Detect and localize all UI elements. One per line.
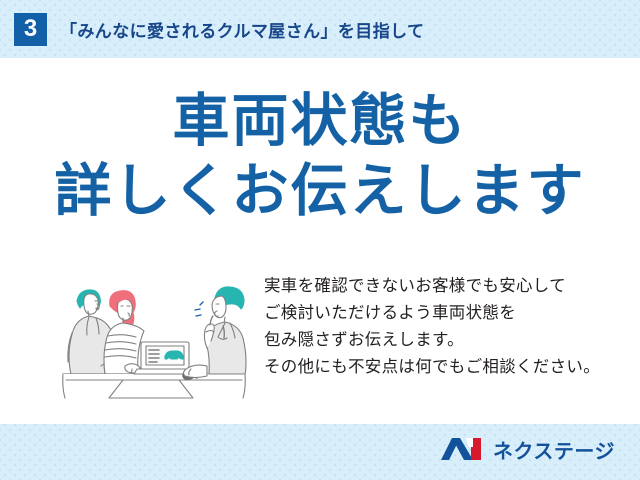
body-copy-line-2: ご検討いただけるよう車両状態を	[264, 300, 624, 327]
step-number-badge: 3	[14, 13, 47, 46]
header-title: 「みんなに愛されるクルマ屋さん」を目指して	[60, 17, 424, 42]
page-title: 車両状態も 詳しくお伝えします	[0, 92, 640, 220]
body-copy-line-4: その他にも不安点は何でもご相談ください。	[264, 354, 624, 381]
content-card: 車両状態も 詳しくお伝えします	[0, 58, 640, 424]
consultation-illustration-svg	[55, 270, 255, 400]
headline-line-1: 車両状態も	[0, 92, 640, 150]
nextage-logo-text: ネクステージ	[493, 442, 615, 462]
body-copy-line-1: 実車を確認できないお客様でも安心して	[264, 273, 624, 300]
nextage-n-mark-icon	[440, 436, 484, 467]
body-copy: 実車を確認できないお客様でも安心して ご検討いただけるよう車両状態を 包み隠さず…	[264, 273, 624, 381]
promo-slide: 3 「みんなに愛されるクルマ屋さん」を目指して 車両状態も 詳しくお伝えします	[0, 0, 640, 480]
body-copy-line-3: 包み隠さずお伝えします。	[264, 327, 624, 354]
consultation-illustration	[55, 270, 255, 400]
content-row: 実車を確認できないお客様でも安心して ご検討いただけるよう車両状態を 包み隠さず…	[0, 270, 640, 420]
slide-header: 3 「みんなに愛されるクルマ屋さん」を目指して	[0, 0, 640, 58]
emphasis-marks	[195, 302, 203, 316]
headline-line-2: 詳しくお伝えします	[0, 162, 640, 220]
slide-footer: ネクステージ	[0, 424, 640, 480]
nextage-logo: ネクステージ	[440, 436, 615, 467]
